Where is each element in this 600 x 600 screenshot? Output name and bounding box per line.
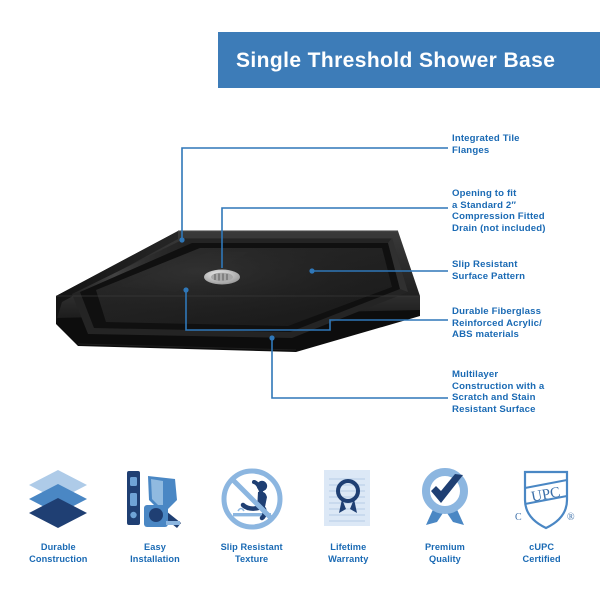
callout-line: Slip Resistant (452, 259, 600, 271)
drain-cover-icon (204, 270, 240, 285)
feature-label: cUPC Certified (523, 542, 561, 565)
callout-line: Resistant Surface (452, 404, 600, 416)
callout-line: Reinforced Acrylic/ (452, 318, 600, 330)
feature-lifetime-warranty: Lifetime Warranty (302, 462, 394, 565)
callout-line: ABS materials (452, 329, 600, 341)
callout-line: Compression Fitted (452, 211, 600, 223)
feature-label: Easy Installation (130, 542, 180, 565)
no-slip-prohibition-icon (215, 462, 289, 536)
upc-shield-icon: UPC C ® (505, 462, 579, 536)
callout-line: a Standard 2″ (452, 200, 600, 212)
callout-line: Scratch and Stain (452, 392, 600, 404)
feature-cupc-certified: UPC C ® cUPC Certified (496, 462, 588, 565)
callout-integrated-tile-flanges: Integrated Tile Flanges (452, 133, 600, 156)
level-trowel-tools-icon (118, 462, 192, 536)
callout-line: Durable Fiberglass (452, 306, 600, 318)
callout-line: Flanges (452, 145, 600, 157)
certificate-ribbon-icon (311, 462, 385, 536)
infographic-canvas: Single Threshold Shower Base (0, 0, 600, 600)
feature-strip: Durable Construction (0, 462, 600, 590)
callout-durable-materials: Durable Fiberglass Reinforced Acrylic/ A… (452, 306, 600, 341)
callout-line: Integrated Tile (452, 133, 600, 145)
feature-label: Lifetime Warranty (328, 542, 368, 565)
feature-easy-installation: Easy Installation (109, 462, 201, 565)
feature-label: Premium Quality (425, 542, 465, 565)
upc-left-mark: C (515, 512, 522, 523)
callout-line: Opening to fit (452, 188, 600, 200)
callout-slip-resistant-surface: Slip Resistant Surface Pattern (452, 259, 600, 282)
feature-slip-resistant-texture: Slip Resistant Texture (206, 462, 298, 565)
callout-line: Surface Pattern (452, 271, 600, 283)
feature-premium-quality: Premium Quality (399, 462, 491, 565)
feature-label: Slip Resistant Texture (221, 542, 283, 565)
feature-durable-construction: Durable Construction (12, 462, 104, 565)
layered-diamonds-icon (21, 462, 95, 536)
callout-multilayer-construction: Multilayer Construction with a Scratch a… (452, 369, 600, 415)
upc-right-mark: ® (567, 512, 575, 523)
callout-line: Drain (not included) (452, 223, 600, 235)
shower-base-body (56, 231, 420, 352)
callout-line: Construction with a (452, 381, 600, 393)
feature-label: Durable Construction (29, 542, 87, 565)
callout-drain-opening: Opening to fit a Standard 2″ Compression… (452, 188, 600, 234)
upc-band-text: UPC (530, 484, 562, 505)
checkmark-rosette-icon (408, 462, 482, 536)
callout-line: Multilayer (452, 369, 600, 381)
